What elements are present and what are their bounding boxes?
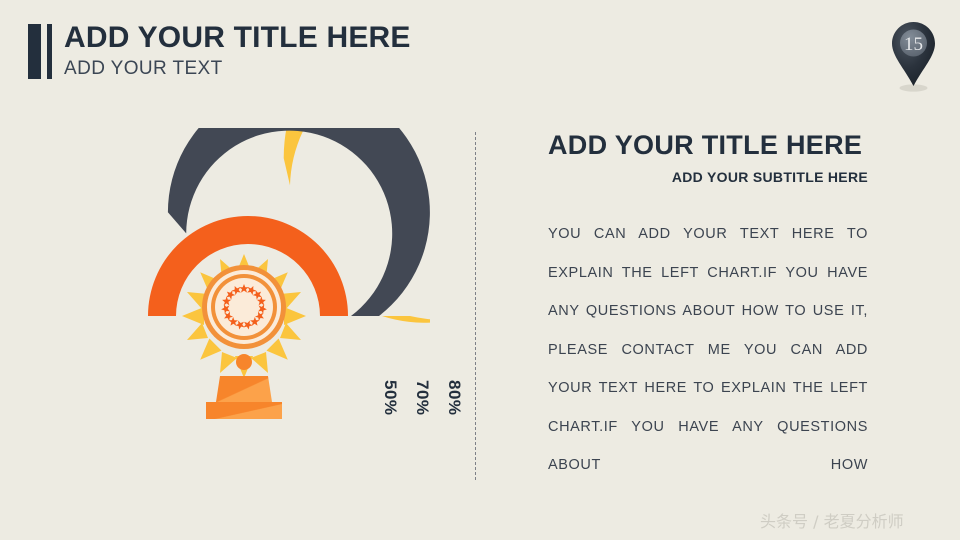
header-accent-bar-thin: [47, 24, 52, 79]
map-pin-icon: [890, 20, 946, 92]
trophy-riser: [216, 376, 272, 402]
chart-label-inner: 50%: [380, 380, 400, 416]
content-subtitle: ADD YOUR SUBTITLE HERE: [548, 169, 868, 185]
header-text-group: ADD YOUR TITLE HERE ADD YOUR TEXT: [64, 20, 411, 81]
page-subtitle: ADD YOUR TEXT: [64, 57, 411, 81]
donut-rings-svg: [60, 128, 430, 503]
trophy-base: [206, 402, 282, 419]
chart-label-middle: 70%: [412, 380, 432, 416]
right-content-panel: ADD YOUR TITLE HERE ADD YOUR SUBTITLE HE…: [548, 128, 868, 485]
donut-chart: 50% 70% 80%: [60, 128, 430, 503]
slide-canvas: ADD YOUR TITLE HERE ADD YOUR TEXT 15: [0, 0, 960, 540]
vertical-dashed-divider: [475, 132, 476, 480]
slide-header: ADD YOUR TITLE HERE ADD YOUR TEXT: [28, 24, 411, 81]
trophy-knob: [236, 354, 252, 370]
page-number-pin: 15: [890, 20, 946, 92]
chart-label-outer: 80%: [444, 380, 464, 416]
content-title: ADD YOUR TITLE HERE: [548, 128, 868, 162]
content-paragraph: YOU CAN ADD YOUR TEXT HERE TO EXPLAIN TH…: [548, 215, 868, 485]
page-number-label: 15: [890, 34, 937, 56]
header-accent-bar-thick: [28, 24, 41, 79]
trophy-medal-icon: [182, 254, 306, 419]
watermark-label: 头条号 / 老夏分析师: [760, 508, 904, 532]
page-title: ADD YOUR TITLE HERE: [64, 20, 411, 56]
